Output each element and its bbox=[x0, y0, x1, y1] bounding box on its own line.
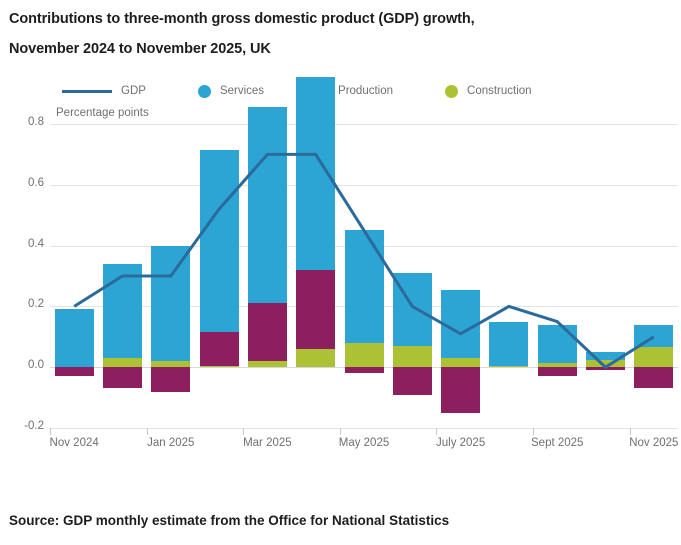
bar-segment-services[interactable] bbox=[345, 230, 384, 342]
bar-segment-services[interactable] bbox=[441, 290, 480, 358]
bar-segment-services[interactable] bbox=[538, 325, 577, 363]
bar-segment-services[interactable] bbox=[296, 77, 335, 270]
x-axis-tick-mark bbox=[533, 428, 534, 435]
gridline bbox=[50, 428, 678, 429]
bar-segment-services[interactable] bbox=[248, 107, 287, 303]
y-axis-tick-label: 0.0 bbox=[0, 359, 44, 371]
bar-segment-production[interactable] bbox=[103, 367, 142, 388]
gridline bbox=[50, 185, 678, 186]
bar-segment-production[interactable] bbox=[586, 367, 625, 370]
y-axis-tick-label: 0.8 bbox=[0, 116, 44, 128]
bar-segment-construction[interactable] bbox=[393, 346, 432, 367]
bar-segment-production[interactable] bbox=[151, 367, 190, 391]
bar-segment-construction[interactable] bbox=[248, 361, 287, 367]
bar-segment-services[interactable] bbox=[55, 309, 94, 367]
bar-segment-production[interactable] bbox=[441, 367, 480, 413]
y-axis-tick-label: 0.4 bbox=[0, 238, 44, 250]
bar-segment-production[interactable] bbox=[55, 367, 94, 376]
bar-segment-production[interactable] bbox=[393, 367, 432, 394]
x-axis-tick-mark bbox=[630, 428, 631, 435]
bar-segment-construction[interactable] bbox=[200, 366, 239, 368]
bar-segment-services[interactable] bbox=[393, 273, 432, 346]
bar-segment-construction[interactable] bbox=[103, 358, 142, 367]
chart-page: Contributions to three-month gross domes… bbox=[0, 0, 681, 545]
bar-segment-production[interactable] bbox=[200, 332, 239, 365]
x-axis-tick-mark bbox=[50, 428, 51, 435]
bar-segment-construction[interactable] bbox=[441, 358, 480, 367]
y-axis-tick-label: 0.6 bbox=[0, 177, 44, 189]
x-axis-tick-label: July 2025 bbox=[436, 437, 485, 449]
bar-segment-construction[interactable] bbox=[296, 349, 335, 367]
bar-segment-services[interactable] bbox=[634, 325, 673, 348]
x-axis-tick-label: Sept 2025 bbox=[531, 437, 583, 449]
bar-segment-services[interactable] bbox=[151, 246, 190, 362]
bar-segment-construction[interactable] bbox=[586, 360, 625, 368]
x-axis-tick-label: Jan 2025 bbox=[147, 437, 194, 449]
x-axis-tick-mark bbox=[340, 428, 341, 435]
bar-segment-production[interactable] bbox=[634, 367, 673, 388]
plot-area: 0.80.60.40.20.0-0.2Nov 2024Jan 2025Mar 2… bbox=[0, 0, 681, 545]
bar-segment-construction[interactable] bbox=[345, 343, 384, 367]
y-axis-tick-label: -0.2 bbox=[0, 420, 44, 432]
bar-segment-services[interactable] bbox=[489, 322, 528, 366]
y-axis-tick-label: 0.2 bbox=[0, 298, 44, 310]
x-axis-tick-mark bbox=[147, 428, 148, 435]
gridline bbox=[50, 124, 678, 125]
bar-segment-production[interactable] bbox=[345, 367, 384, 373]
bar-segment-production[interactable] bbox=[538, 367, 577, 376]
x-axis-tick-label: Mar 2025 bbox=[243, 437, 292, 449]
x-axis-tick-mark bbox=[436, 428, 437, 435]
source-note: Source: GDP monthly estimate from the Of… bbox=[9, 513, 449, 528]
x-axis-tick-label: Nov 2025 bbox=[629, 437, 678, 449]
bar-segment-construction[interactable] bbox=[489, 366, 528, 368]
x-axis-tick-label: Nov 2024 bbox=[50, 437, 99, 449]
x-axis-tick-mark bbox=[243, 428, 244, 435]
bar-segment-services[interactable] bbox=[103, 264, 142, 358]
bar-segment-services[interactable] bbox=[586, 352, 625, 360]
bar-segment-services[interactable] bbox=[200, 150, 239, 332]
bar-segment-production[interactable] bbox=[296, 270, 335, 349]
x-axis-tick-label: May 2025 bbox=[339, 437, 390, 449]
bar-segment-production[interactable] bbox=[248, 303, 287, 361]
bar-segment-construction[interactable] bbox=[634, 347, 673, 367]
